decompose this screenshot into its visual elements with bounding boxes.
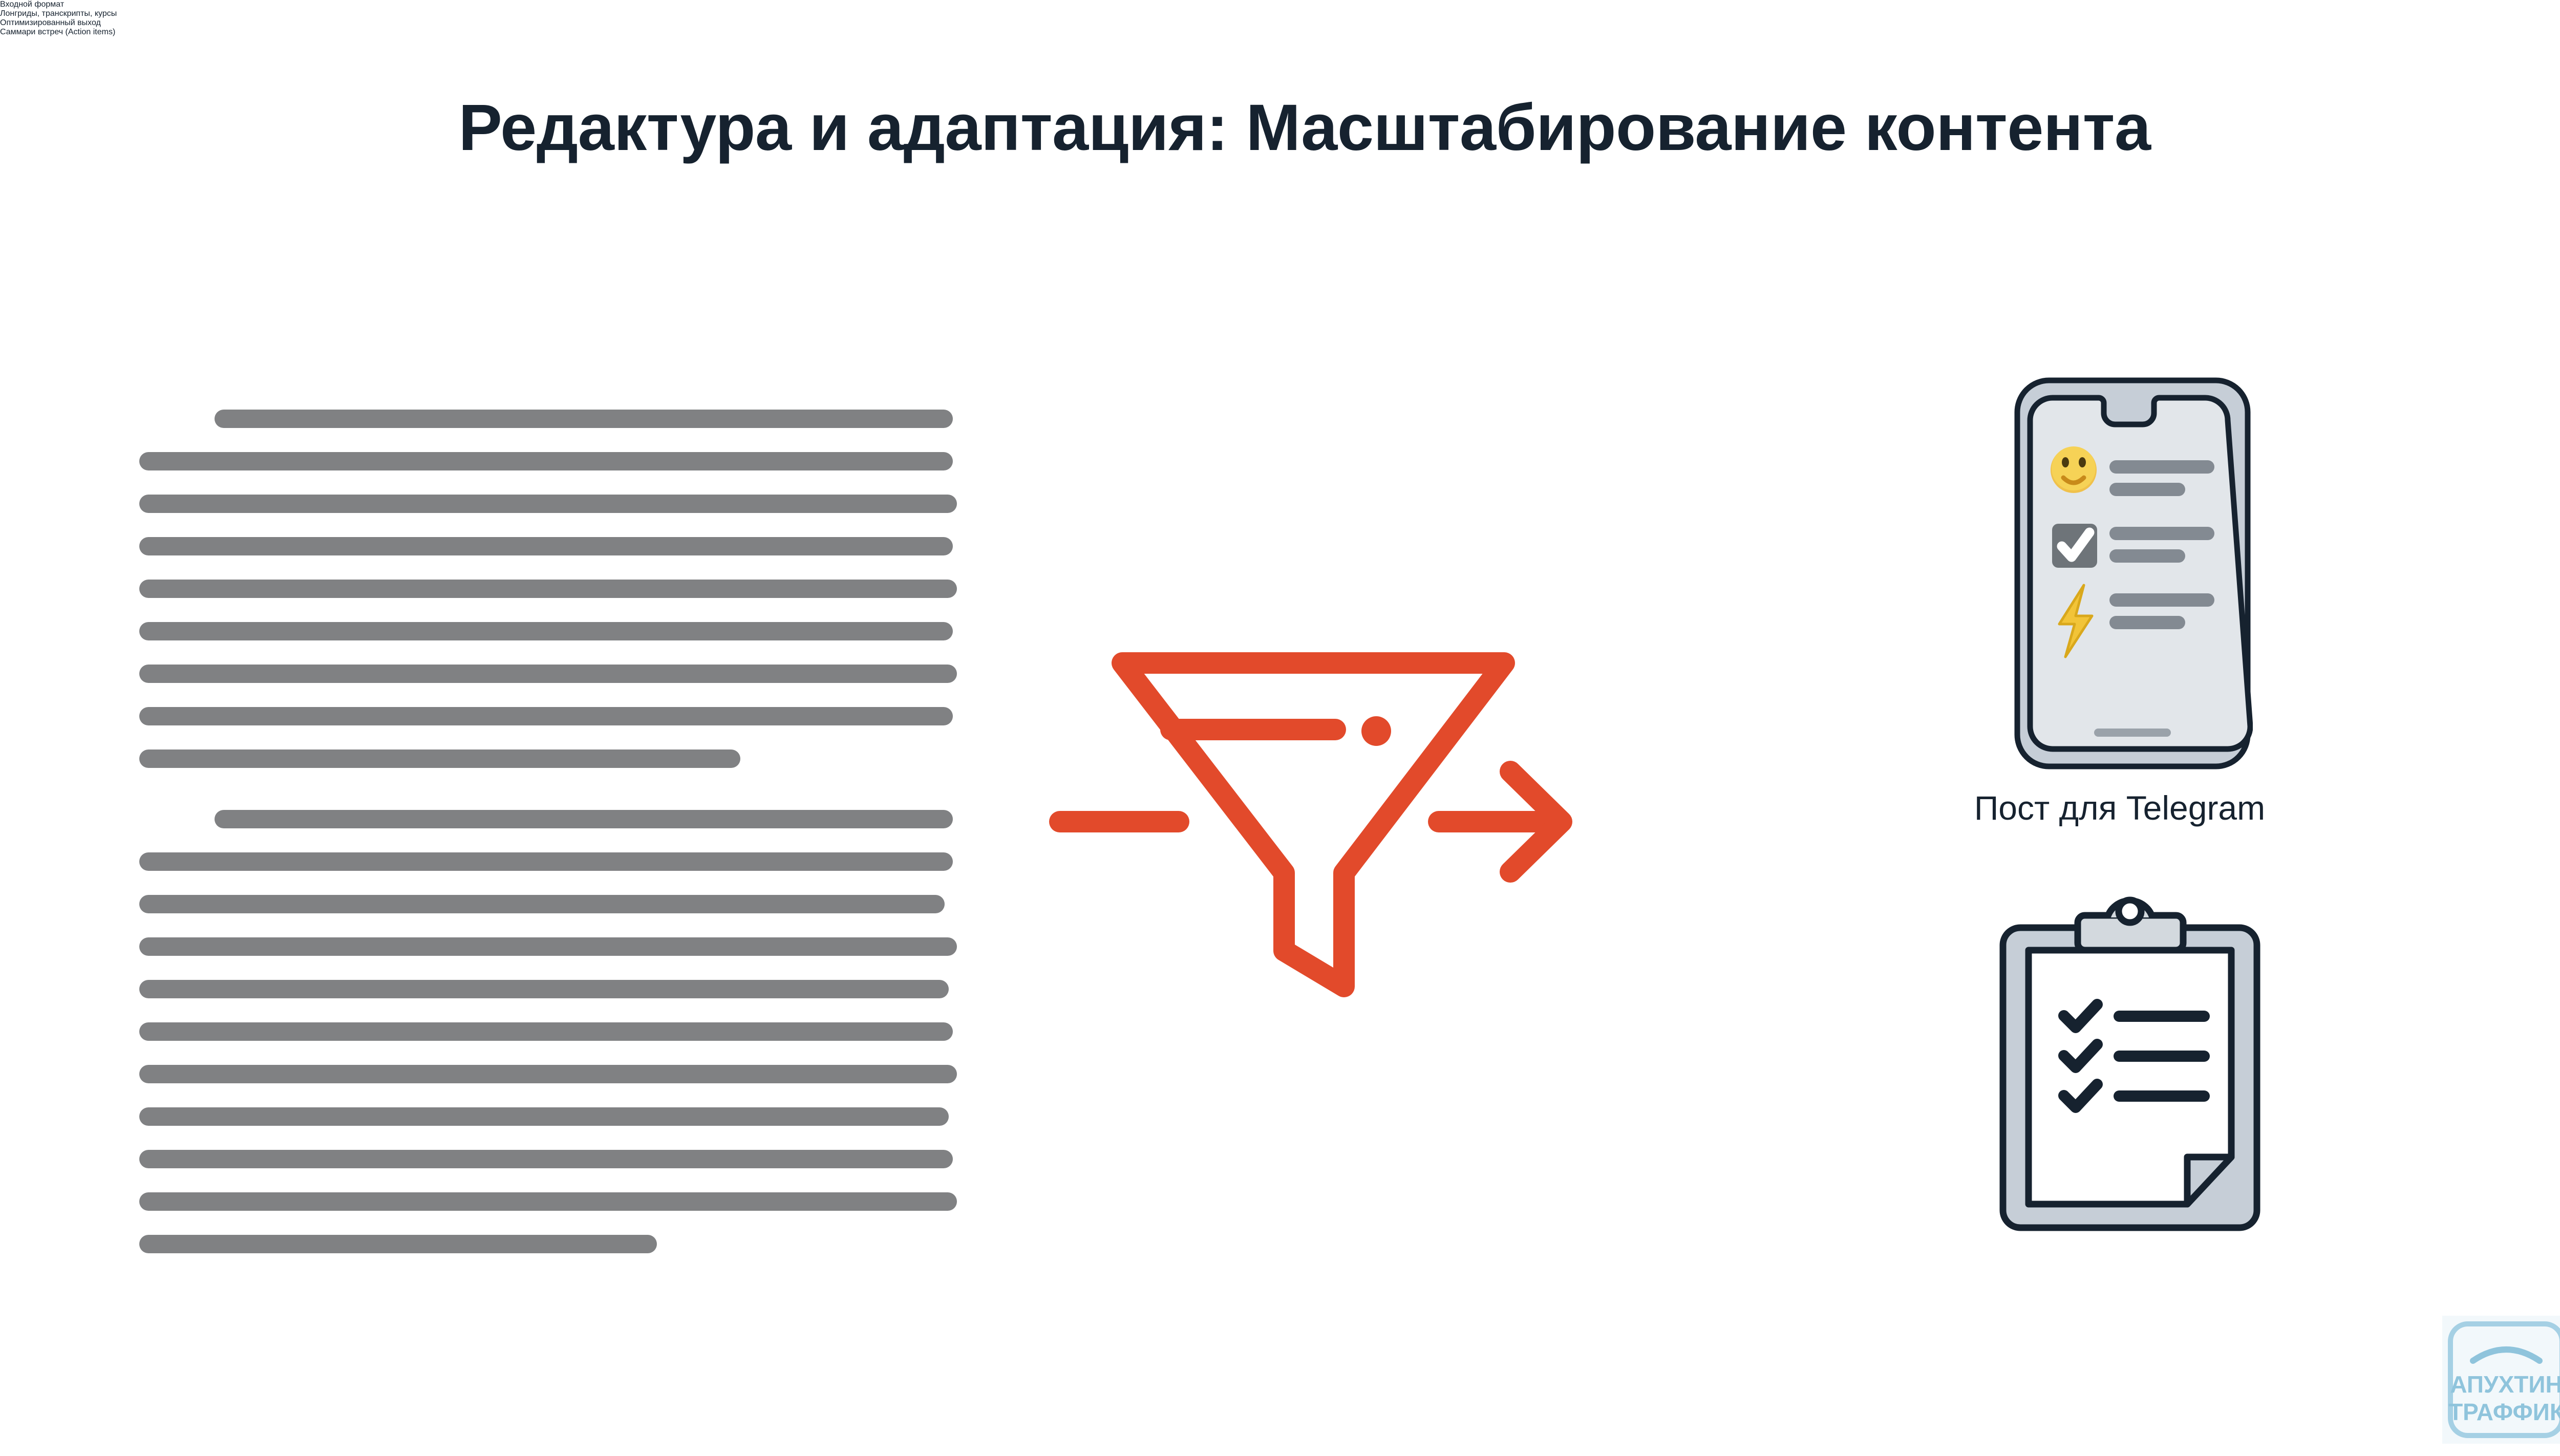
document-text-lines [139, 410, 974, 1259]
smartphone-icon [2012, 376, 2253, 770]
document-text-line [139, 452, 953, 470]
document-text-line [139, 852, 953, 871]
document-text-line [139, 1107, 949, 1126]
funnel-with-arrow-icon [1044, 607, 1582, 1016]
document-text-line [139, 937, 957, 956]
document-text-line [139, 622, 953, 640]
document-text-line [139, 1235, 657, 1253]
document-text-line [139, 895, 945, 913]
telegram-post-caption: Пост для Telegram [1654, 788, 2560, 827]
watermark-logo: АПУХТИН ТРАФФИК [2442, 1316, 2560, 1444]
input-column-heading: Входной формат [0, 0, 870, 9]
document-text-line [139, 1192, 957, 1211]
document-text-line [139, 707, 953, 725]
watermark-line1: АПУХТИН [2450, 1371, 2560, 1398]
clipboard-checklist-icon [1997, 891, 2263, 1234]
document-text-line [139, 1150, 953, 1168]
document-text-line [139, 537, 953, 555]
document-text-line [139, 495, 957, 513]
document-text-line [139, 580, 957, 598]
document-text-line [139, 665, 957, 683]
page-title: Редактура и адаптация: Масштабирование к… [0, 92, 2560, 164]
output-column-heading: Оптимизированный выход [0, 18, 932, 28]
document-text-line [215, 410, 953, 428]
signal-arc-icon [2473, 1350, 2540, 1361]
document-text-line [139, 1065, 957, 1083]
watermark-line2: ТРАФФИК [2448, 1399, 2560, 1425]
input-column-caption: Лонгриды, транскрипты, курсы [0, 9, 870, 18]
document-text-line [139, 750, 740, 768]
output-column-caption: Саммари встреч (Action items) [0, 28, 932, 37]
document-text-line [215, 810, 953, 828]
document-text-line [139, 980, 949, 998]
document-text-line [139, 1022, 953, 1041]
